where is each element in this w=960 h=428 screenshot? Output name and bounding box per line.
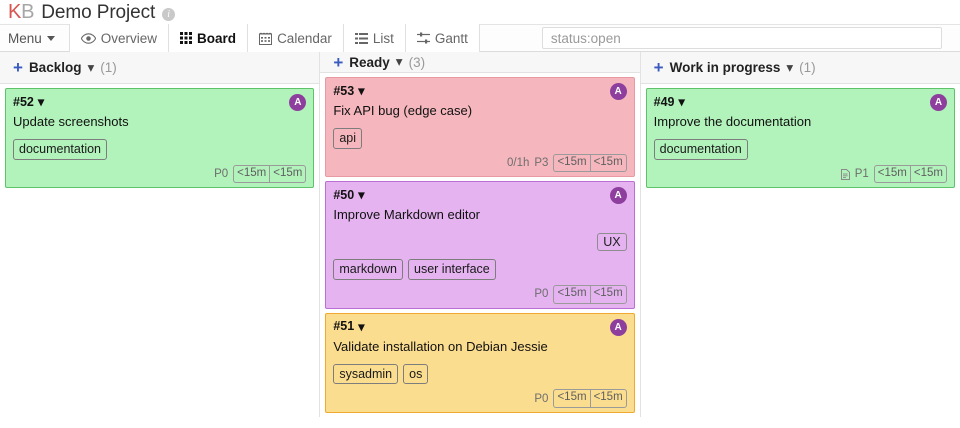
task-card-top: #52▾A <box>13 94 306 111</box>
column-dropdown-icon[interactable]: ▾ <box>396 54 403 70</box>
task-priority: P0 <box>534 288 548 300</box>
task-card[interactable]: #49▾AImprove the documentationdocumentat… <box>646 88 955 188</box>
app-logo[interactable]: KB <box>8 1 34 24</box>
column-task-list[interactable]: #49▾AImprove the documentationdocumentat… <box>641 84 960 417</box>
task-time-box: <15m <box>553 154 589 173</box>
task-time-box: <15m <box>233 165 269 184</box>
avatar[interactable]: A <box>930 94 947 111</box>
task-card-top: #50▾A <box>333 187 626 204</box>
task-tag[interactable]: os <box>403 364 428 385</box>
tab-gantt[interactable]: Gantt <box>405 24 480 52</box>
avatar[interactable]: A <box>610 319 627 336</box>
task-priority: P3 <box>534 157 548 169</box>
column-header: +Ready▾(3) <box>320 52 639 73</box>
column-header: +Work in progress▾(1) <box>641 52 960 84</box>
task-id[interactable]: #53▾ <box>333 83 364 98</box>
task-id[interactable]: #51▾ <box>333 319 364 334</box>
sliders-icon <box>417 32 430 44</box>
task-dropdown-icon[interactable]: ▾ <box>358 83 364 98</box>
logo-letter-b: B <box>21 1 34 23</box>
add-task-icon[interactable]: + <box>333 54 343 71</box>
view-tabs: Overview Board <box>69 24 480 52</box>
task-id[interactable]: #52▾ <box>13 94 44 109</box>
task-badge-row: UX <box>333 233 626 251</box>
list-icon <box>355 33 368 44</box>
task-priority: P0 <box>214 168 228 180</box>
menu-label: Menu <box>8 31 42 46</box>
task-footer: P0<15m<15m <box>13 165 306 184</box>
task-footer: P0<15m<15m <box>333 389 626 408</box>
task-tag[interactable]: markdown <box>333 259 403 280</box>
page-title: Demo Project <box>41 2 155 24</box>
column-dropdown-icon[interactable]: ▾ <box>87 60 94 76</box>
board-column: +Backlog▾(1)#52▾AUpdate screenshotsdocum… <box>0 52 320 417</box>
tab-list-label: List <box>373 31 394 46</box>
task-time-spent: 0/1h <box>507 157 529 169</box>
column-task-list[interactable]: #52▾AUpdate screenshotsdocumentationP0<1… <box>0 84 319 417</box>
add-task-icon[interactable]: + <box>13 59 23 76</box>
task-time-box: <15m <box>269 165 306 184</box>
task-id-label: #51 <box>333 319 354 333</box>
avatar[interactable]: A <box>289 94 306 111</box>
board-column: +Work in progress▾(1)#49▾AImprove the do… <box>641 52 960 417</box>
task-footer: 0/1hP3<15m<15m <box>333 154 626 173</box>
menu-dropdown-button[interactable]: Menu <box>8 31 69 46</box>
search-container <box>542 27 960 49</box>
task-time-box: <15m <box>590 285 627 304</box>
column-title[interactable]: Ready <box>349 55 390 70</box>
task-tag-list: documentation <box>654 139 947 160</box>
task-id-label: #52 <box>13 95 34 109</box>
avatar[interactable]: A <box>610 83 627 100</box>
task-time-boxes: <15m<15m <box>553 154 626 173</box>
task-time-box: <15m <box>590 154 627 173</box>
task-footer: P1<15m<15m <box>654 165 947 184</box>
task-tag-list: sysadminos <box>333 364 626 385</box>
nav-bar: Menu Overview <box>0 24 960 52</box>
task-tag[interactable]: api <box>333 128 362 149</box>
task-time-boxes: <15m<15m <box>553 389 626 408</box>
grid-icon <box>180 32 192 44</box>
task-card[interactable]: #53▾AFix API bug (edge case)api0/1hP3<15… <box>325 77 634 177</box>
column-task-count: (3) <box>409 55 426 70</box>
task-time-box: <15m <box>874 165 910 184</box>
chevron-down-icon <box>47 36 55 41</box>
description-icon <box>841 169 850 180</box>
task-title[interactable]: Improve the documentation <box>654 114 947 131</box>
task-tag-list: markdownuser interface <box>333 259 626 280</box>
task-time-box: <15m <box>590 389 627 408</box>
task-time-boxes: <15m<15m <box>233 165 306 184</box>
task-time-boxes: <15m<15m <box>874 165 947 184</box>
task-card-top: #49▾A <box>654 94 947 111</box>
task-time-box: <15m <box>910 165 947 184</box>
task-priority: P1 <box>855 168 869 180</box>
task-footer: P0<15m<15m <box>333 285 626 304</box>
task-id-label: #53 <box>333 84 354 98</box>
task-tag[interactable]: sysadmin <box>333 364 398 385</box>
logo-letter-k: K <box>8 1 21 23</box>
tab-overview-label: Overview <box>101 31 157 46</box>
task-id[interactable]: #49▾ <box>654 94 685 109</box>
task-card-top: #53▾A <box>333 83 626 100</box>
task-dropdown-icon[interactable]: ▾ <box>38 94 44 109</box>
tab-list[interactable]: List <box>343 24 405 52</box>
tab-gantt-label: Gantt <box>435 31 468 46</box>
task-time-boxes: <15m<15m <box>553 285 626 304</box>
task-tag-list: documentation <box>13 139 306 160</box>
add-task-icon[interactable]: + <box>654 59 664 76</box>
task-id[interactable]: #50▾ <box>333 187 364 202</box>
task-id-label: #49 <box>654 95 675 109</box>
tab-calendar-label: Calendar <box>277 31 332 46</box>
board-column: +Ready▾(3)#53▾AFix API bug (edge case)ap… <box>320 52 640 417</box>
task-card-top: #51▾A <box>333 319 626 336</box>
column-dropdown-icon[interactable]: ▾ <box>786 60 793 76</box>
info-icon[interactable]: i <box>162 8 175 21</box>
task-dropdown-icon[interactable]: ▾ <box>358 187 364 202</box>
task-tag[interactable]: documentation <box>13 139 107 160</box>
task-priority: P0 <box>534 393 548 405</box>
task-tag[interactable]: user interface <box>408 259 496 280</box>
calendar-icon <box>259 32 272 45</box>
column-header: +Backlog▾(1) <box>0 52 319 84</box>
column-task-count: (1) <box>799 60 816 75</box>
title-bar: KB Demo Project i <box>0 0 960 24</box>
task-card[interactable]: #52▾AUpdate screenshotsdocumentationP0<1… <box>5 88 314 188</box>
tab-calendar[interactable]: Calendar <box>247 24 343 52</box>
status-badge[interactable]: UX <box>597 233 626 251</box>
task-title[interactable]: Validate installation on Debian Jessie <box>333 339 626 356</box>
task-tag[interactable]: documentation <box>654 139 748 160</box>
task-id-label: #50 <box>333 188 354 202</box>
column-title[interactable]: Work in progress <box>670 60 781 75</box>
kanban-board: +Backlog▾(1)#52▾AUpdate screenshotsdocum… <box>0 52 960 417</box>
tab-board-label: Board <box>197 31 236 46</box>
task-time-box: <15m <box>553 285 589 304</box>
task-time-box: <15m <box>553 389 589 408</box>
column-task-count: (1) <box>100 60 117 75</box>
avatar[interactable]: A <box>610 187 627 204</box>
eye-icon <box>81 33 96 44</box>
task-dropdown-icon[interactable]: ▾ <box>679 94 685 109</box>
column-title[interactable]: Backlog <box>29 60 82 75</box>
column-task-list[interactable]: #53▾AFix API bug (edge case)api0/1hP3<15… <box>320 73 639 417</box>
task-tag-list: api <box>333 128 626 149</box>
task-title[interactable]: Update screenshots <box>13 114 306 131</box>
tab-board[interactable]: Board <box>168 24 247 52</box>
task-title[interactable]: Fix API bug (edge case) <box>333 103 626 120</box>
task-dropdown-icon[interactable]: ▾ <box>358 319 364 334</box>
task-title[interactable]: Improve Markdown editor <box>333 207 626 224</box>
task-card[interactable]: #50▾AImprove Markdown editorUXmarkdownus… <box>325 181 634 308</box>
search-input[interactable] <box>542 27 942 49</box>
task-card[interactable]: #51▾AValidate installation on Debian Jes… <box>325 313 634 413</box>
tab-overview[interactable]: Overview <box>69 24 168 52</box>
